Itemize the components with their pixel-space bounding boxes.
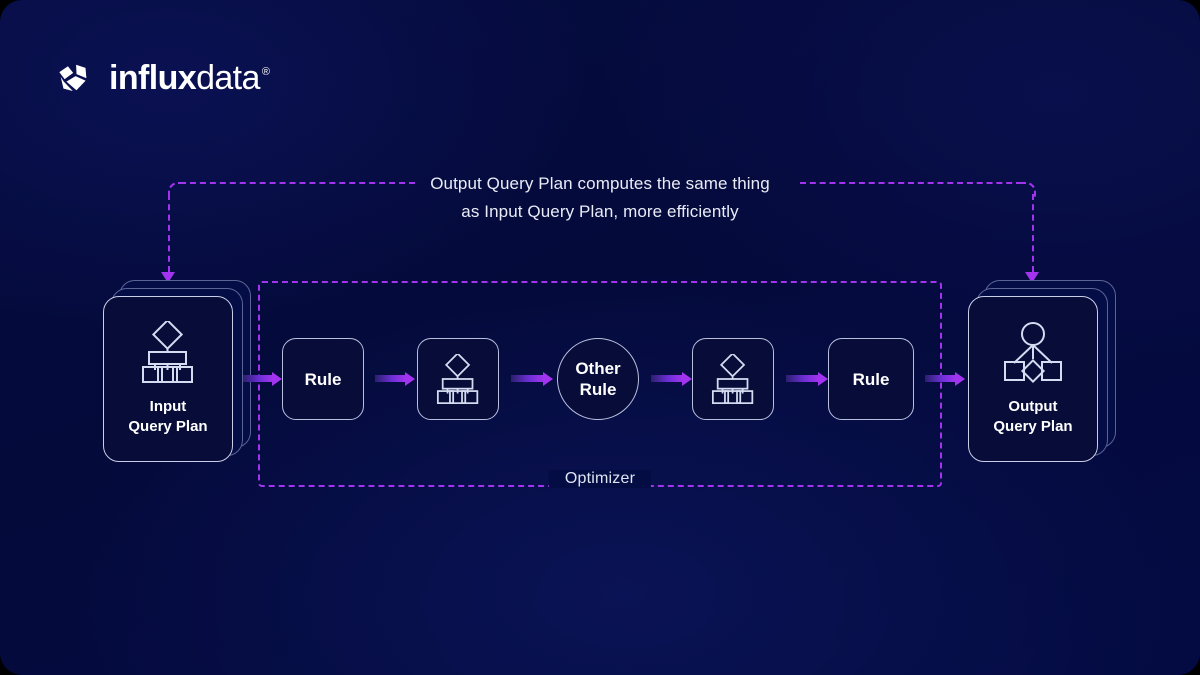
influxdata-wordmark: influx data ®: [109, 59, 268, 98]
arrow-plan-2-to-rule-2: [786, 375, 819, 382]
registered-trademark-icon: ®: [262, 66, 270, 78]
rule-2-label: Rule: [853, 369, 890, 390]
diagram-caption: Output Query Plan computes the same thin…: [0, 170, 1200, 226]
input-query-plan-card[interactable]: Input Query Plan: [103, 280, 233, 446]
feedback-line-top-left: [180, 182, 415, 184]
query-plan-tree-icon: [704, 354, 762, 404]
pipeline-node-rule-1[interactable]: Rule: [282, 338, 364, 420]
wordmark-influx: influx: [109, 59, 196, 98]
diagram-canvas: influx data ® Output Query Plan computes…: [0, 0, 1200, 675]
feedback-line-down-right: [1032, 194, 1034, 272]
influxdata-logo: influx data ®: [55, 58, 268, 98]
query-plan-tree-icon: [132, 321, 204, 383]
caption-line-2: as Input Query Plan, more efficiently: [0, 198, 1200, 226]
input-plan-line-1: Input: [128, 397, 207, 417]
input-query-plan-label: Input Query Plan: [128, 397, 207, 437]
arrow-other-rule-to-plan-2: [651, 375, 683, 382]
output-plan-line-1: Output: [993, 397, 1072, 417]
arrow-plan-1-to-other-rule: [511, 375, 544, 382]
rule-1-label: Rule: [305, 369, 342, 390]
pipeline-node-plan-1[interactable]: [417, 338, 499, 420]
other-rule-label: Other Rule: [575, 358, 620, 400]
input-plan-line-2: Query Plan: [128, 417, 207, 437]
other-rule-line-1: Other: [575, 358, 620, 379]
wordmark-data: data: [196, 59, 260, 98]
feedback-line-top-right: [800, 182, 1022, 184]
feedback-corner-left: [168, 182, 184, 198]
pipeline-node-rule-2[interactable]: Rule: [828, 338, 914, 420]
pipeline-node-other-rule[interactable]: Other Rule: [557, 338, 639, 420]
feedback-line-down-left: [168, 194, 170, 272]
other-rule-line-2: Rule: [575, 379, 620, 400]
arrow-input-to-rule-1: [243, 375, 273, 382]
arrow-rule-2-to-output: [925, 375, 956, 382]
query-plan-tree-icon: [429, 354, 487, 404]
arrow-rule-1-to-plan-1: [375, 375, 406, 382]
optimizer-label: Optimizer: [549, 470, 651, 488]
pipeline-node-plan-2[interactable]: [692, 338, 774, 420]
output-query-plan-card[interactable]: Output Query Plan: [968, 280, 1098, 446]
influxdata-polyhedron-icon: [55, 58, 95, 98]
output-query-plan-label: Output Query Plan: [993, 397, 1072, 437]
input-query-plan-front[interactable]: Input Query Plan: [103, 296, 233, 462]
optimized-query-plan-tree-icon: [997, 321, 1069, 383]
output-plan-line-2: Query Plan: [993, 417, 1072, 437]
output-query-plan-front[interactable]: Output Query Plan: [968, 296, 1098, 462]
